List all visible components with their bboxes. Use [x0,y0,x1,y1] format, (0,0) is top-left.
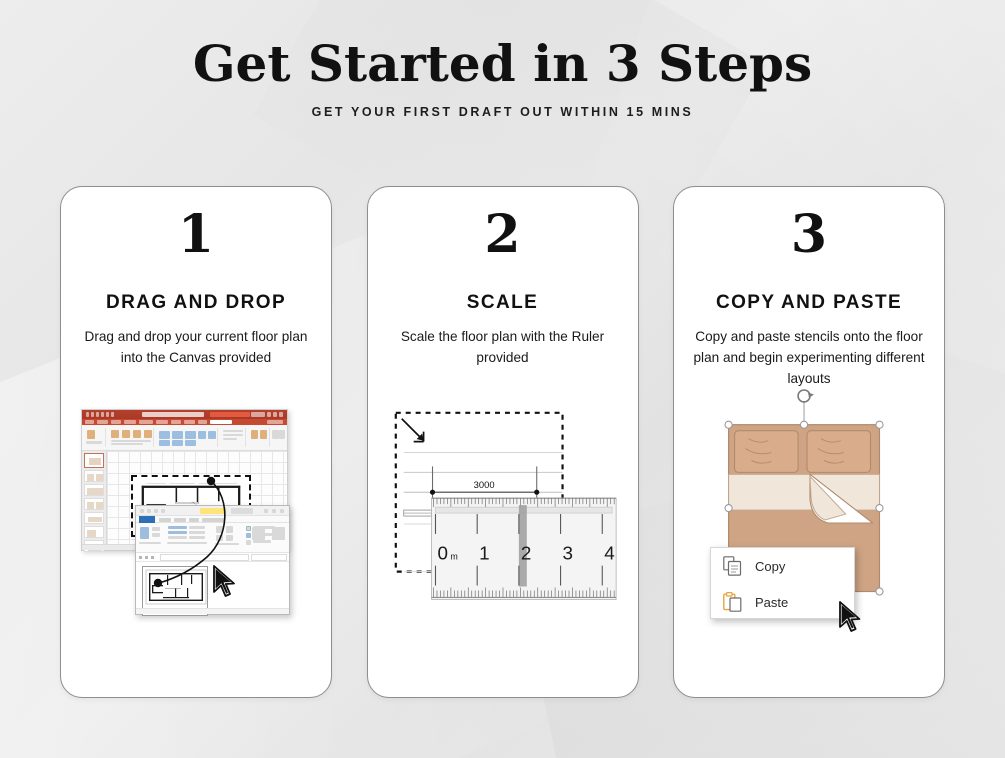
ruler-unit-label: m [450,552,457,562]
bed-stencil-graphic[interactable] [674,387,944,697]
page-title: Get Started in 3 Steps [0,38,1005,91]
illustration-scale-ruler: 3000 [368,387,638,697]
context-menu-item-copy[interactable]: Copy [711,548,854,584]
drag-arrow [61,387,332,698]
illustration-drag-and-drop: Floor plan.png [61,387,331,697]
ruler-tick-label: 3 [562,543,572,564]
context-menu-label: Copy [755,559,785,574]
step-description: Copy and paste stencils onto the floor p… [674,326,944,389]
step-number: 2 [368,209,638,261]
step-card-2[interactable]: 2 SCALE Scale the floor plan with the Ru… [367,186,639,698]
copy-icon [723,556,742,576]
poster-canvas: Get Started in 3 Steps GET YOUR FIRST DR… [0,0,1005,758]
header: Get Started in 3 Steps GET YOUR FIRST DR… [0,38,1005,119]
pillow-right [807,431,871,473]
mouse-cursor-icon [212,565,242,601]
context-menu[interactable]: Copy Paste [710,547,855,619]
step-card-1[interactable]: 1 DRAG AND DROP Drag and drop your curre… [60,186,332,698]
step-description: Scale the floor plan with the Ruler prov… [368,326,638,368]
rotate-icon[interactable] [798,390,814,425]
resize-arrow-icon [401,419,423,442]
ruler-tick-label: 4 [604,543,614,564]
steps-container: 1 DRAG AND DROP Drag and drop your curre… [60,186,945,698]
pillow-left [735,431,799,473]
ruler-tick-label: 2 [520,543,530,564]
step-number: 3 [674,209,944,261]
step-heading: DRAG AND DROP [61,292,331,314]
ruler-tick-label: 1 [479,543,489,564]
mouse-cursor-icon [838,601,866,635]
illustration-copy-paste: Copy Paste [674,387,944,697]
step-heading: COPY AND PASTE [674,292,944,314]
step-description: Drag and drop your current floor plan in… [61,326,331,368]
ruler-diagram: 3000 [368,387,638,697]
ruler-tick-label: 0 [437,543,447,564]
context-menu-item-paste[interactable]: Paste [711,584,854,620]
bed-sheet [729,474,880,510]
paste-icon [723,592,742,612]
step-card-3[interactable]: 3 COPY AND PASTE Copy and paste stencils… [673,186,945,698]
step-number: 1 [61,209,331,261]
page-subtitle: GET YOUR FIRST DRAFT OUT WITHIN 15 MINS [0,105,1005,119]
step-heading: SCALE [368,292,638,314]
dimension-label: 3000 [473,479,494,490]
context-menu-label: Paste [755,595,788,610]
